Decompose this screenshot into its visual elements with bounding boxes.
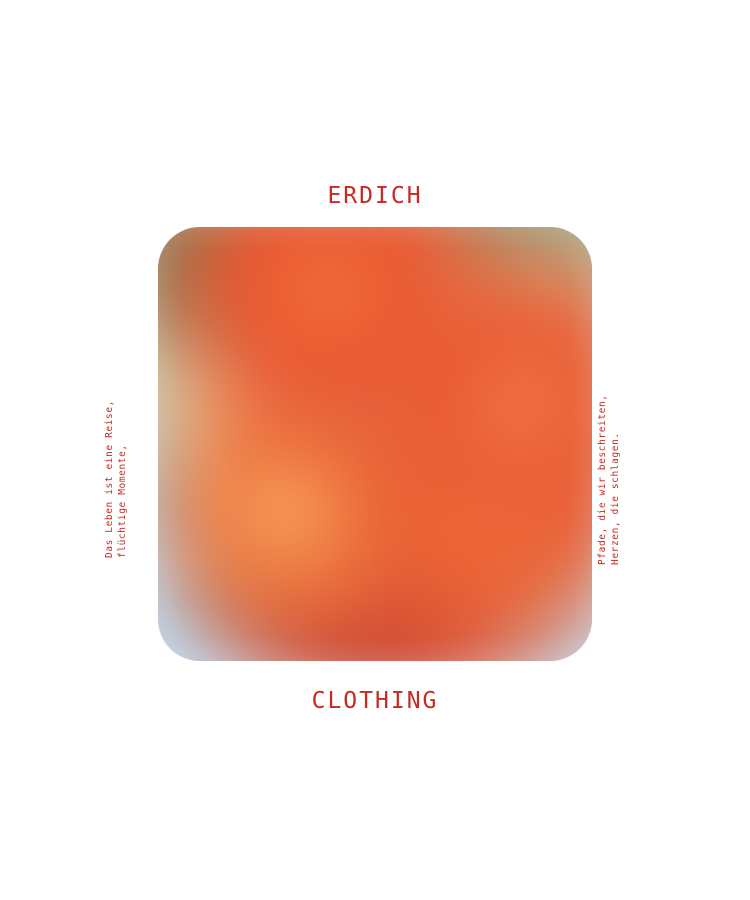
brand-word-top: ERDICH: [0, 185, 750, 208]
hero-image: [158, 227, 592, 661]
brand-word-bottom: CLOTHING: [0, 690, 750, 713]
caption-right-line-1: Pfade, die wir beschreiten,: [596, 325, 609, 565]
caption-left-line-1: Das Leben ist eine Reise,: [103, 318, 116, 558]
hero-image-blurred-photo: [158, 227, 592, 661]
caption-right: Pfade, die wir beschreiten, Herzen, die …: [596, 325, 622, 565]
caption-left-line-2: flüchtige Momente,: [116, 318, 129, 558]
poster-canvas: ERDICH Das Leben ist eine Reise, flüchti…: [0, 0, 750, 900]
caption-right-line-2: Herzen, die schlagen.: [609, 325, 622, 565]
caption-left: Das Leben ist eine Reise, flüchtige Mome…: [103, 318, 129, 558]
